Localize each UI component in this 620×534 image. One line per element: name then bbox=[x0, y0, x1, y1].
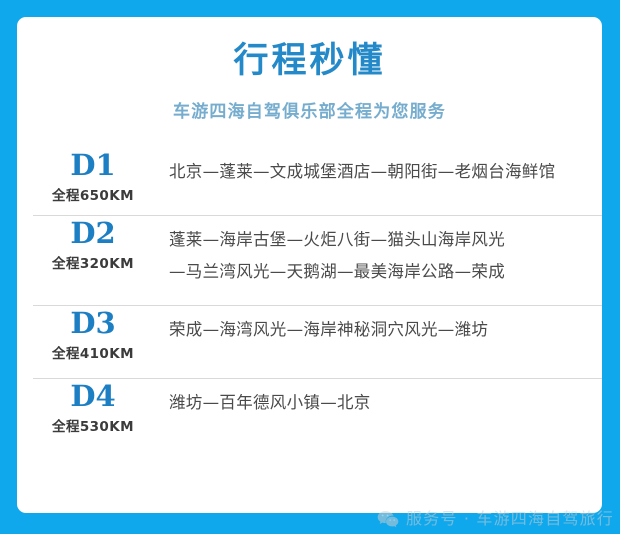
day-distance-label: 全程410KM bbox=[17, 342, 169, 362]
wechat-icon bbox=[377, 510, 399, 528]
day-summary: D3 全程410KM bbox=[17, 306, 169, 362]
itinerary-day-row: D4 全程530KM 潍坊—百年德风小镇—北京 bbox=[17, 379, 602, 451]
watermark-text: 服务号 · 车游四海自驾旅行 bbox=[406, 511, 614, 527]
day-distance-label: 全程650KM bbox=[17, 184, 169, 204]
route-line: 蓬莱—海岸古堡—火炬八街—猫头山海岸风光 bbox=[169, 224, 586, 256]
card-header: 行程秒懂 车游四海自驾俱乐部全程为您服务 bbox=[17, 17, 602, 123]
day-code-label: D1 bbox=[17, 150, 169, 180]
day-route: 潍坊—百年德风小镇—北京 bbox=[169, 379, 586, 419]
page-title: 行程秒懂 bbox=[17, 41, 602, 82]
day-code-label: D2 bbox=[17, 218, 169, 248]
itinerary-day-row: D3 全程410KM 荣成—海湾风光—海岸神秘洞穴风光—潍坊 bbox=[17, 306, 602, 379]
route-line: —马兰湾风光—天鹅湖—最美海岸公路—荣成 bbox=[169, 256, 586, 288]
day-code-label: D3 bbox=[17, 308, 169, 338]
day-distance-label: 全程530KM bbox=[17, 415, 169, 435]
day-distance-label: 全程320KM bbox=[17, 252, 169, 272]
itinerary-day-row: D1 全程650KM 北京—蓬莱—文成城堡酒店—朝阳街—老烟台海鲜馆 bbox=[17, 148, 602, 216]
itinerary-card: 行程秒懂 车游四海自驾俱乐部全程为您服务 D1 全程650KM 北京—蓬莱—文成… bbox=[17, 17, 602, 513]
route-line: 潍坊—百年德风小镇—北京 bbox=[169, 387, 586, 419]
day-route: 蓬莱—海岸古堡—火炬八街—猫头山海岸风光 —马兰湾风光—天鹅湖—最美海岸公路—荣… bbox=[169, 216, 586, 288]
itinerary-day-list: D1 全程650KM 北京—蓬莱—文成城堡酒店—朝阳街—老烟台海鲜馆 D2 全程… bbox=[17, 148, 602, 451]
route-line: 荣成—海湾风光—海岸神秘洞穴风光—潍坊 bbox=[169, 314, 586, 346]
route-line: 北京—蓬莱—文成城堡酒店—朝阳街—老烟台海鲜馆 bbox=[169, 156, 586, 188]
day-route: 北京—蓬莱—文成城堡酒店—朝阳街—老烟台海鲜馆 bbox=[169, 148, 586, 188]
itinerary-day-row: D2 全程320KM 蓬莱—海岸古堡—火炬八街—猫头山海岸风光 —马兰湾风光—天… bbox=[17, 216, 602, 306]
poster-canvas: 行程秒懂 车游四海自驾俱乐部全程为您服务 D1 全程650KM 北京—蓬莱—文成… bbox=[0, 0, 620, 534]
watermark: 服务号 · 车游四海自驾旅行 bbox=[377, 510, 614, 528]
day-route: 荣成—海湾风光—海岸神秘洞穴风光—潍坊 bbox=[169, 306, 586, 346]
day-summary: D2 全程320KM bbox=[17, 216, 169, 272]
day-code-label: D4 bbox=[17, 381, 169, 411]
day-summary: D4 全程530KM bbox=[17, 379, 169, 435]
page-subtitle: 车游四海自驾俱乐部全程为您服务 bbox=[17, 102, 602, 122]
day-summary: D1 全程650KM bbox=[17, 148, 169, 204]
